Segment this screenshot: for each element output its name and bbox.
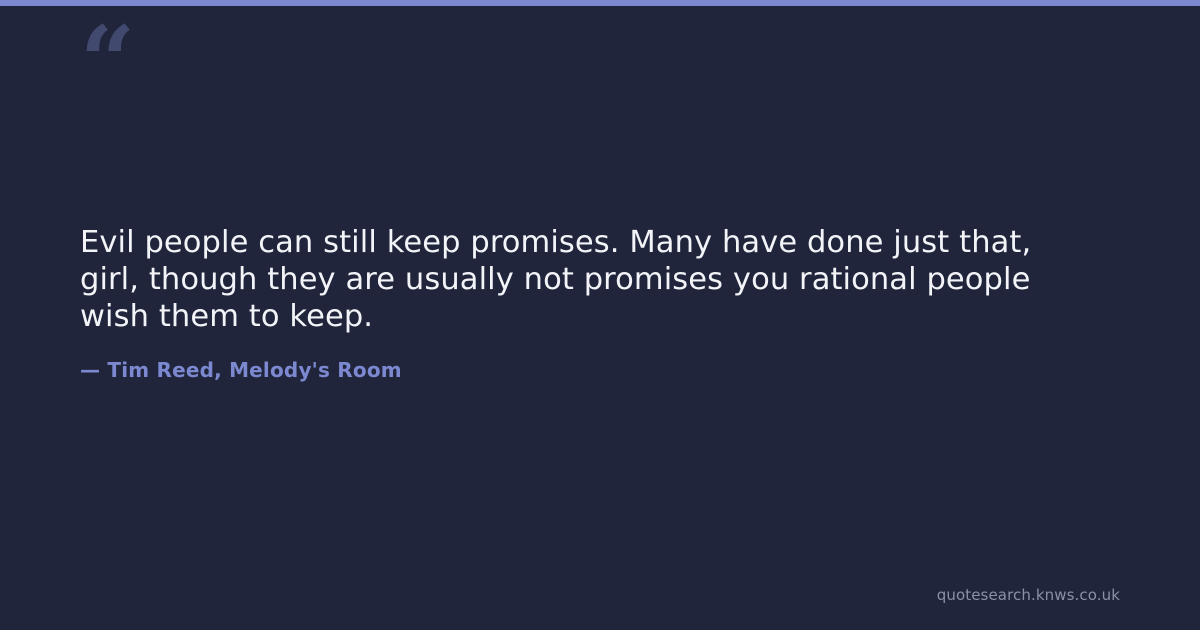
open-quote-icon: “ — [80, 14, 133, 110]
site-watermark: quotesearch.knws.co.uk — [937, 586, 1120, 604]
quote-card: “ Evil people can still keep promises. M… — [0, 0, 1200, 630]
quote-attribution: — Tim Reed, Melody's Room — [80, 357, 402, 383]
quote-content: “ Evil people can still keep promises. M… — [80, 0, 1120, 630]
quote-text: Evil people can still keep promises. Man… — [80, 224, 1080, 335]
